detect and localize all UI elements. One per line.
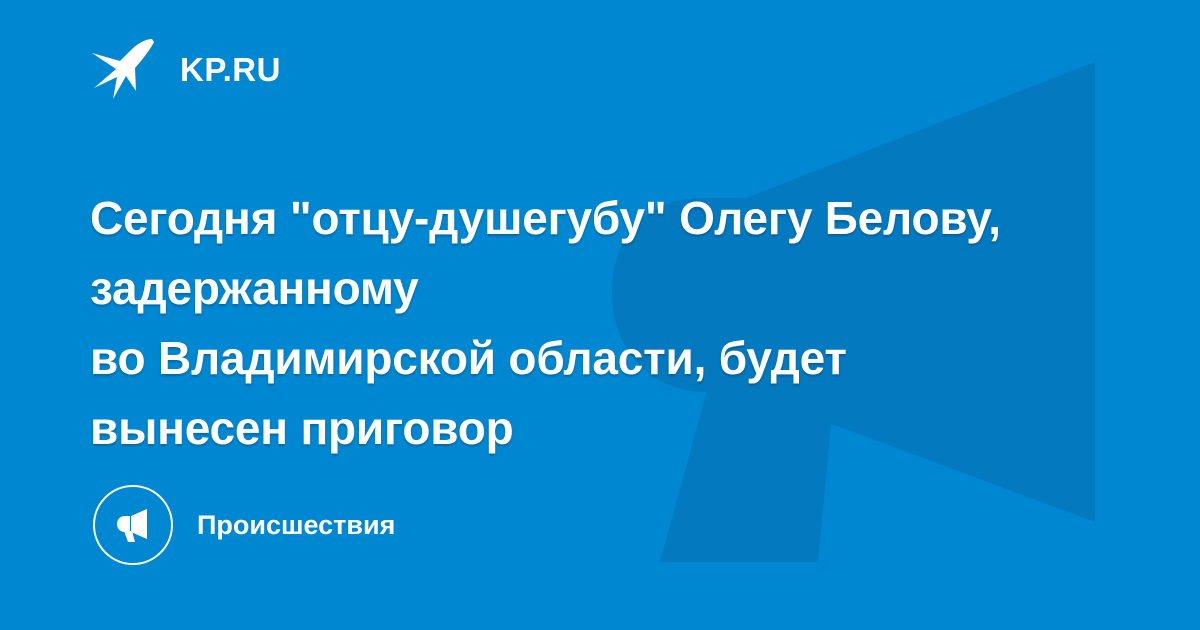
site-header: KP.RU [90,34,281,104]
category-badge: Происшествия [93,485,395,565]
swallow-bird-icon [90,36,162,102]
category-label: Происшествия [197,512,395,539]
social-share-card: KP.RU Сегодня "отцу-душегубу" Олегу Бело… [0,0,1200,630]
article-headline: Сегодня "отцу-душегубу" Олегу Белову, за… [90,183,1050,463]
megaphone-icon [112,504,154,546]
category-icon-circle [93,485,173,565]
brand-logo-text: KP.RU [180,53,281,86]
